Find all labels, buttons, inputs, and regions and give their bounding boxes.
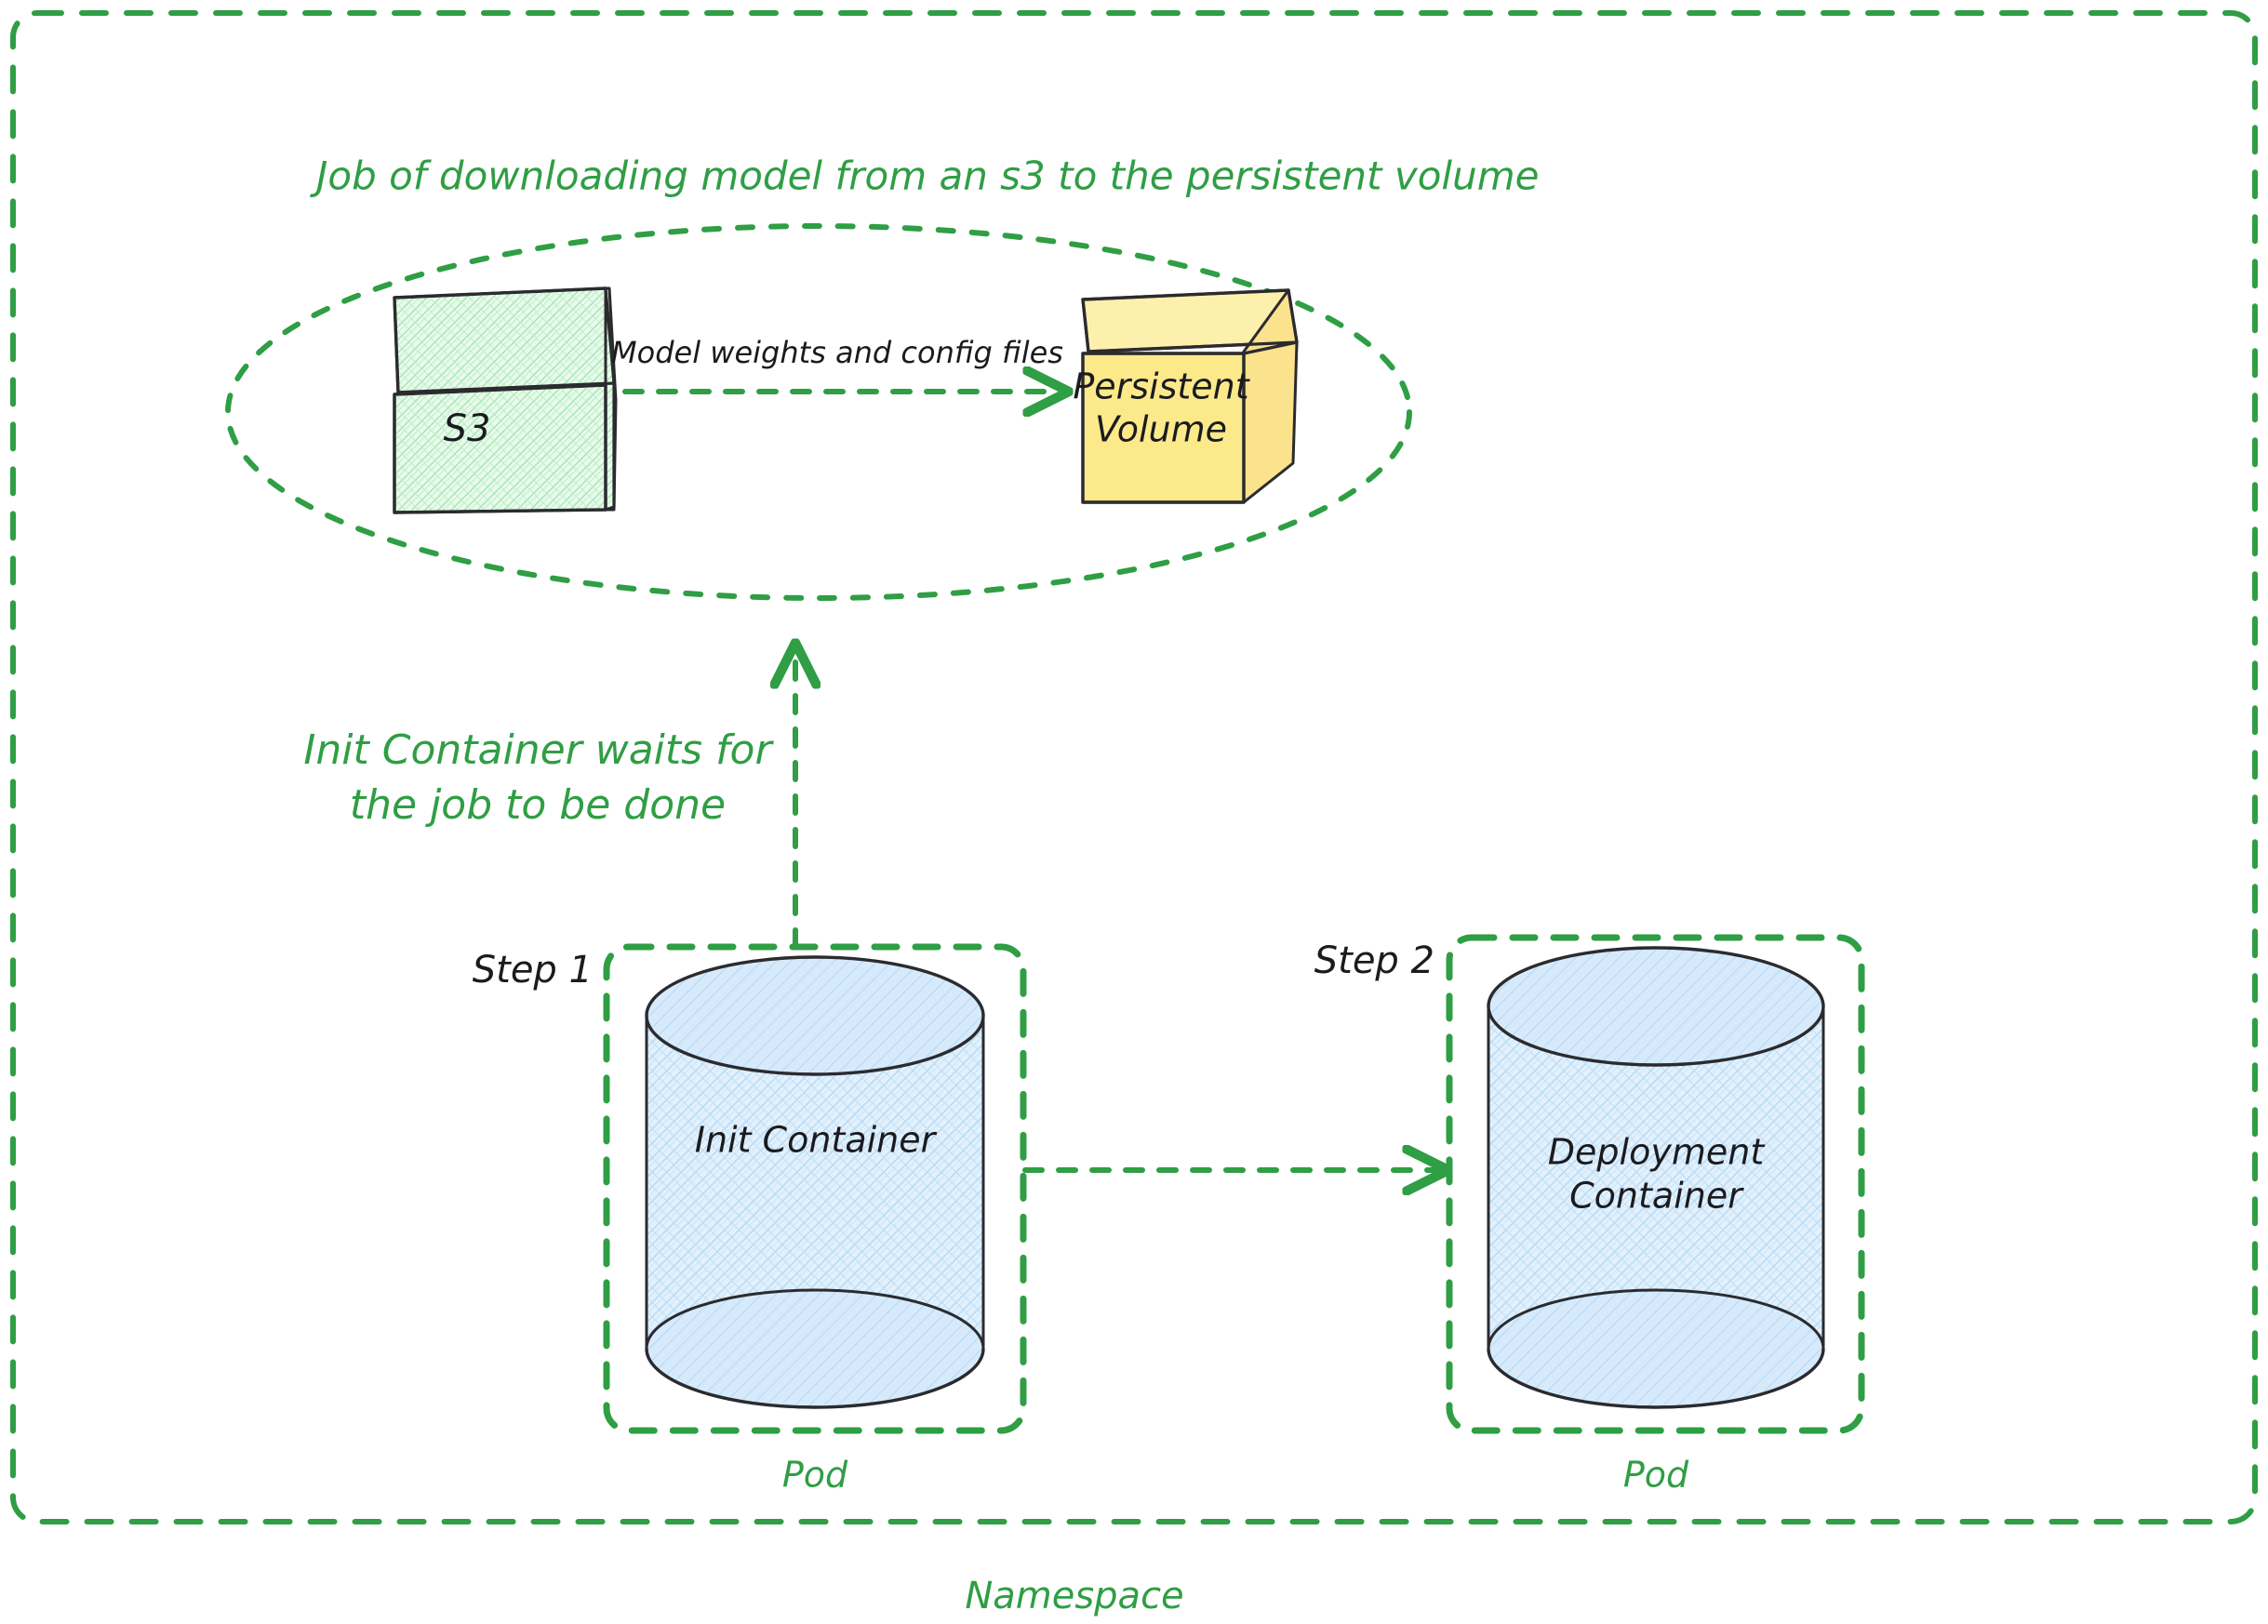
deployment-container-label-line2: Container — [1569, 1176, 1744, 1217]
s3-label: S3 — [444, 407, 491, 450]
init-container-label: Init Container — [695, 1120, 938, 1161]
pod-2-label: Pod — [1623, 1455, 1689, 1496]
namespace-label: Namespace — [965, 1575, 1183, 1617]
deployment-container-label-line1: Deployment — [1548, 1132, 1767, 1173]
init-wait-label-line2: the job to be done — [350, 781, 726, 829]
diagram-text-layer: Job of downloading model from an s3 to t… — [0, 0, 2268, 1624]
step-2-label: Step 2 — [1314, 939, 1434, 982]
persistent-volume-label-line2: Volume — [1095, 409, 1227, 450]
step-1-label: Step 1 — [473, 949, 593, 992]
model-transfer-label: Model weights and config files — [611, 335, 1063, 370]
init-wait-label-line1: Init Container waits for — [303, 726, 774, 774]
pod-1-label: Pod — [782, 1455, 848, 1496]
diagram-canvas: Job of downloading model from an s3 to t… — [0, 0, 2268, 1624]
job-group-title: Job of downloading model from an s3 to t… — [310, 153, 1539, 199]
persistent-volume-label-line1: Persistent — [1073, 366, 1250, 407]
